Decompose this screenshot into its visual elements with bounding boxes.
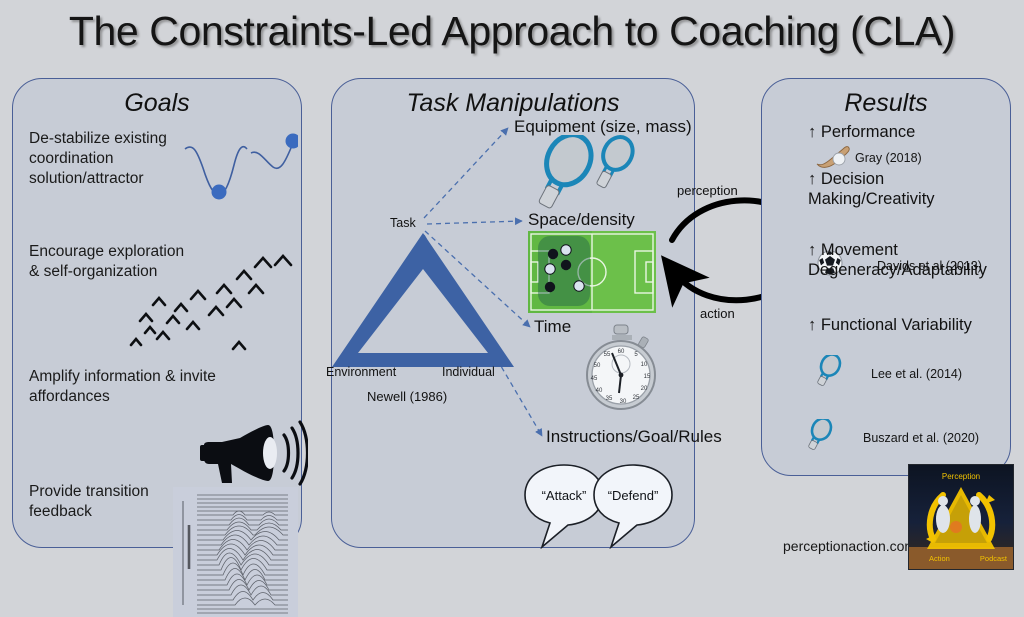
task-branch-label-instructions: Instructions/Goal/Rules	[546, 427, 722, 447]
result-heading-4-text: Functional Variability	[821, 316, 972, 334]
svg-text:55: 55	[604, 352, 611, 358]
result-arrow-4: ↑	[808, 316, 816, 334]
newell-triangle-graphic	[328, 227, 518, 377]
result-heading-2-text: Decision Making/Creativity	[808, 170, 935, 208]
result-heading-1: ↑ Performance	[808, 122, 915, 142]
task-manipulations-panel: Task Manipulations Task Environment Indi…	[331, 78, 695, 548]
page-title: The Constraints-Led Approach to Coaching…	[0, 8, 1024, 55]
cycle-label-action: action	[700, 306, 735, 321]
website-url: perceptionaction.com	[783, 538, 916, 554]
results-panel: Results ↑ Performance Gray (2018) ↑ Deci…	[761, 78, 1011, 476]
svg-text:40: 40	[596, 388, 603, 394]
waveform-plot-graphic	[173, 487, 298, 617]
flock-of-birds-graphic	[123, 249, 298, 359]
svg-text:25: 25	[633, 395, 640, 401]
result-heading-4: ↑ Functional Variability	[808, 315, 972, 335]
soccer-pitch-graphic	[528, 231, 656, 313]
goal-item-1-text: De-stabilize existing coordination solut…	[29, 129, 204, 188]
tennis-rackets-graphic	[530, 135, 642, 213]
task-branch-label-time: Time	[534, 317, 571, 337]
goal-item-4-text: Provide transition feedback	[29, 482, 194, 522]
tennis-racket-icon-1	[817, 355, 847, 387]
stopwatch-graphic: 605550 454035 302520 15105	[582, 323, 662, 415]
baseball-bat-icon	[813, 143, 853, 169]
svg-text:50: 50	[594, 363, 601, 369]
svg-text:45: 45	[591, 376, 598, 382]
result-citation-1: Gray (2018)	[855, 151, 922, 165]
newell-caption: Newell (1986)	[367, 389, 447, 404]
speech-bubble-attack-text: “Attack”	[542, 488, 587, 503]
goals-panel: Goals De-stabilize existing coordination…	[12, 78, 302, 548]
logo-label-perception: Perception	[942, 472, 980, 481]
cycle-label-perception: perception	[677, 183, 738, 198]
svg-text:35: 35	[606, 396, 613, 402]
result-citation-4: Buszard et al. (2020)	[863, 431, 979, 445]
task-branch-label-equipment: Equipment (size, mass)	[514, 117, 692, 137]
goal-item-3-text: Amplify information & invite affordances	[29, 367, 219, 407]
attractor-landscape-graphic	[183, 121, 298, 211]
perception-action-podcast-logo: Perception Action Podcast	[908, 464, 1014, 570]
result-heading-3: ↑ Movement Degeneracy/Adaptability	[808, 240, 1013, 280]
task-panel-title: Task Manipulations	[332, 89, 694, 118]
speech-bubbles-graphic: “Attack” “Defend”	[522, 459, 692, 549]
logo-label-podcast: Podcast	[980, 554, 1008, 563]
newell-vertex-individual: Individual	[442, 365, 495, 379]
logo-label-action: Action	[929, 554, 950, 563]
result-citation-3: Lee et al. (2014)	[871, 367, 962, 381]
result-heading-1-text: Performance	[821, 123, 915, 141]
svg-text:20: 20	[641, 386, 648, 392]
result-arrow-1: ↑	[808, 123, 816, 141]
result-heading-3-text: Movement Degeneracy/Adaptability	[808, 241, 987, 279]
svg-text:30: 30	[620, 399, 627, 405]
speech-bubble-defend-text: “Defend”	[608, 488, 659, 503]
svg-text:60: 60	[618, 349, 625, 355]
result-arrow-2: ↑	[808, 170, 816, 188]
newell-vertex-environment: Environment	[326, 365, 396, 379]
goals-panel-title: Goals	[13, 89, 301, 118]
svg-text:15: 15	[644, 374, 651, 380]
svg-text:10: 10	[641, 362, 648, 368]
megaphone-graphic	[198, 409, 308, 489]
slide-canvas: The Constraints-Led Approach to Coaching…	[0, 0, 1024, 576]
task-branch-label-space: Space/density	[528, 210, 635, 230]
tennis-racket-icon-2	[808, 419, 838, 451]
result-arrow-3: ↑	[808, 241, 816, 259]
result-heading-2: ↑ Decision Making/Creativity	[808, 169, 1008, 209]
results-panel-title: Results	[762, 89, 1010, 118]
